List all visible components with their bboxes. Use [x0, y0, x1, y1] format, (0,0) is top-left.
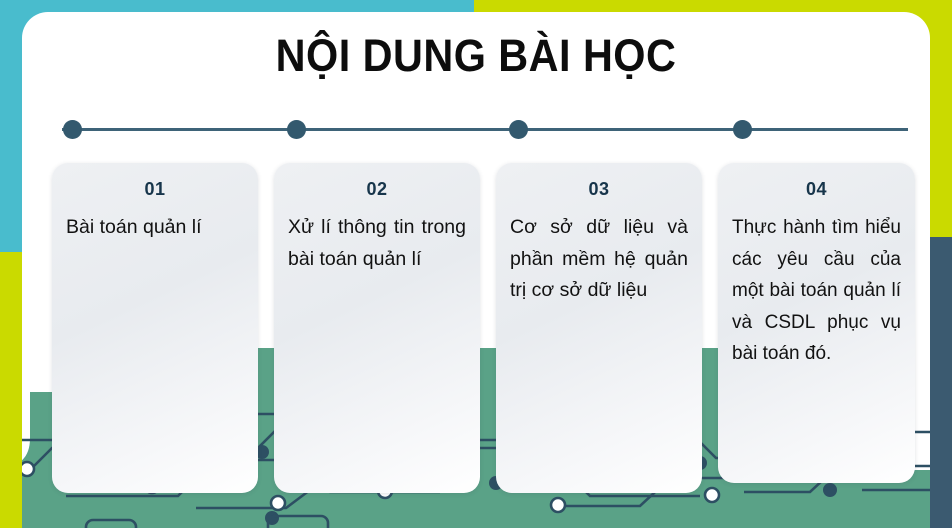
slide-canvas: NỘI DUNG BÀI HỌC 01 Bài toán quản lí 02 …: [0, 0, 952, 528]
content-card-2[interactable]: 02 Xử lí thông tin trong bài toán quản l…: [274, 163, 480, 493]
card-number-1: 01: [52, 179, 258, 200]
timeline-dot-4[interactable]: [733, 120, 752, 139]
timeline-dot-1[interactable]: [63, 120, 82, 139]
content-card-1[interactable]: 01 Bài toán quản lí: [52, 163, 258, 493]
card-text-4: Thực hành tìm hiểu các yêu cầu của một b…: [732, 212, 901, 370]
timeline-dot-3[interactable]: [509, 120, 528, 139]
card-text-3: Cơ sở dữ liệu và phần mềm hệ quản trị cơ…: [510, 212, 688, 307]
timeline-rule: [62, 128, 908, 131]
card-text-1: Bài toán quản lí: [66, 212, 244, 244]
content-card-4[interactable]: 04 Thực hành tìm hiểu các yêu cầu của mộ…: [718, 163, 915, 483]
card-number-2: 02: [274, 179, 480, 200]
page-title: NỘI DUNG BÀI HỌC: [38, 30, 914, 82]
card-text-2: Xử lí thông tin trong bài toán quản lí: [288, 212, 466, 275]
content-card-3[interactable]: 03 Cơ sở dữ liệu và phần mềm hệ quản trị…: [496, 163, 702, 493]
card-number-4: 04: [718, 179, 915, 200]
card-number-3: 03: [496, 179, 702, 200]
timeline-dot-2[interactable]: [287, 120, 306, 139]
